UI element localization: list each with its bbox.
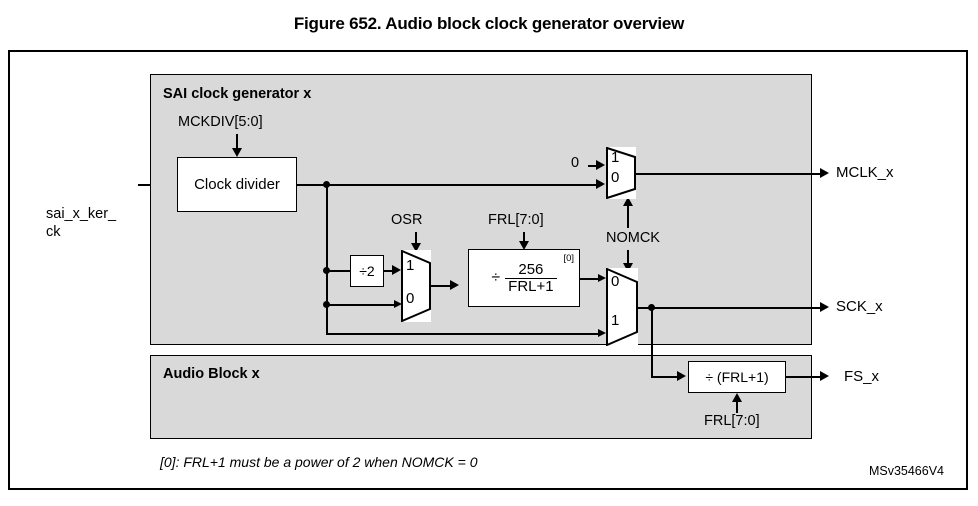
- div2-label: ÷2: [359, 263, 374, 279]
- arrow-div2-to-osr-mux-icon: [392, 265, 401, 275]
- frl-bottom-label: FRL[7:0]: [704, 413, 760, 429]
- sck-mux-input-0-label: 0: [611, 273, 619, 290]
- osr-label: OSR: [391, 212, 422, 228]
- fraction-numerator: 256: [515, 262, 546, 278]
- wire-sck-to-frl-divider-vertical: [651, 307, 653, 377]
- fraction-div-sign: ÷: [491, 270, 500, 286]
- nomck-label: NOMCK: [606, 230, 660, 246]
- figure-frame: sai_x_ker_ck SAI clock generator x Audio…: [8, 50, 968, 490]
- audio-block-heading: Audio Block x: [163, 366, 260, 382]
- wire-bypass-to-sck-mux-1: [326, 333, 601, 335]
- arrow-mclk-output-icon: [820, 168, 829, 178]
- arrow-frl-bottom-icon: [732, 393, 742, 402]
- arrow-mckdiv-icon: [232, 148, 242, 157]
- mclk-mux-input-0-label: 0: [611, 169, 619, 186]
- osr-mux-input-0-label: 0: [406, 290, 414, 307]
- fraction-stack: 256 FRL+1: [505, 262, 556, 295]
- wire-mclk-mux-to-output: [635, 173, 825, 175]
- fraction-denominator: FRL+1: [505, 278, 556, 295]
- wire-frl-bottom: [736, 401, 738, 413]
- arrow-osr-mux-to-fraction-icon: [450, 280, 459, 290]
- page-title: Figure 652. Audio block clock generator …: [0, 14, 978, 34]
- arrow-divider-mclk-mux-icon: [596, 179, 605, 189]
- fs-output-label: FS_x: [844, 368, 879, 385]
- clock-divider-label: Clock divider: [194, 176, 280, 193]
- osr-mux-input-1-label: 1: [406, 257, 414, 274]
- fraction-expression: ÷ 256 FRL+1 [0]: [469, 250, 579, 306]
- footnote: [0]: FRL+1 must be a power of 2 when NOM…: [160, 454, 477, 470]
- frl-divider-box: ÷ (FRL+1): [688, 361, 786, 393]
- frl-top-label: FRL[7:0]: [488, 212, 544, 228]
- mclk-mux-input-1-label: 1: [611, 149, 619, 166]
- wire-bus-to-osr-mux-0: [326, 304, 396, 306]
- sck-output-label: SCK_x: [836, 298, 883, 315]
- wire-bus-to-div2: [326, 270, 350, 272]
- frl-divider-label: ÷ (FRL+1): [705, 369, 768, 385]
- wire-frl-divider-to-fs-output: [786, 376, 824, 378]
- arrow-fs-output-icon: [820, 371, 829, 381]
- mckdiv-label: MCKDIV[5:0]: [178, 114, 263, 130]
- sai-block-heading: SAI clock generator x: [163, 86, 311, 102]
- figure-id: MSv35466V4: [869, 464, 944, 478]
- sck-mux-input-1-label: 1: [611, 312, 619, 329]
- mclk-mux: 1 0: [606, 147, 636, 199]
- mclk-mux-const-input-label: 0: [571, 155, 579, 171]
- fraction-footnote-marker: [0]: [563, 253, 574, 264]
- wire-sck-to-frl-divider-horizontal: [651, 376, 680, 378]
- sck-mux: 0 1: [606, 268, 638, 346]
- clock-divider-box: Clock divider: [177, 157, 297, 212]
- wire-divider-bus-vertical: [326, 184, 328, 334]
- arrow-sck-mux-1-icon: [598, 329, 606, 337]
- wire-nomck-up: [627, 204, 629, 228]
- input-signal-label: sai_x_ker_ck: [46, 205, 146, 241]
- osr-mux: 1 0: [401, 250, 431, 322]
- arrow-frl-divider-input-icon: [677, 371, 686, 381]
- arrow-const0-mclk-mux-icon: [596, 160, 605, 170]
- mclk-output-label: MCLK_x: [836, 164, 894, 181]
- wire-divider-to-mclk-mux: [297, 184, 602, 186]
- arrow-sck-mux-0-icon: [598, 274, 606, 282]
- div2-box: ÷2: [350, 255, 384, 287]
- wire-sck-mux-to-output: [637, 307, 825, 309]
- fraction-divider-box: ÷ 256 FRL+1 [0]: [468, 249, 580, 307]
- arrow-sck-output-icon: [820, 302, 829, 312]
